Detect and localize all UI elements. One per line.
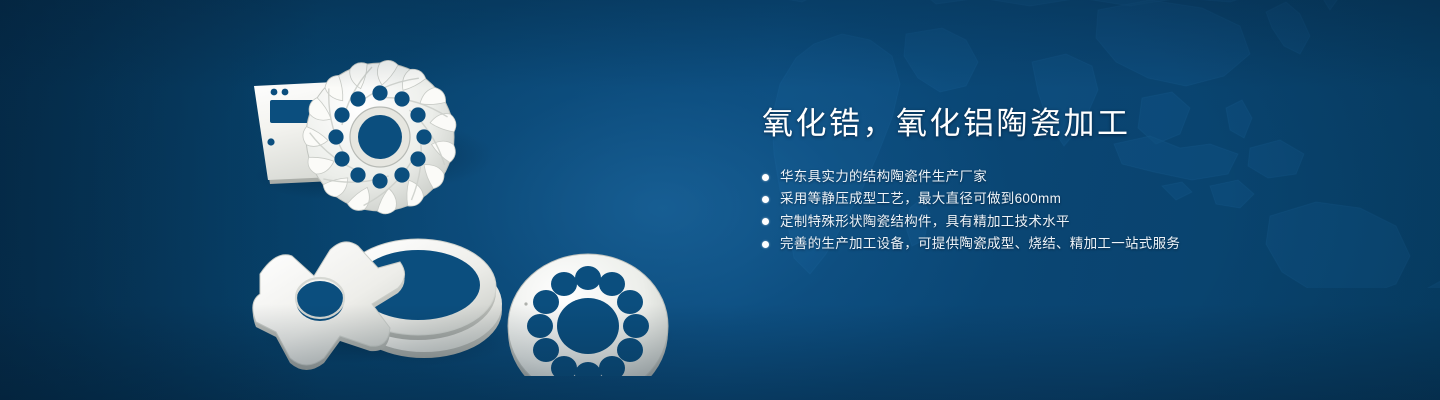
bullet-dot-icon <box>762 174 769 181</box>
bullet-dot-icon <box>762 241 769 248</box>
bullet-dot-icon <box>762 196 769 203</box>
feature-text: 采用等静压成型工艺，最大直径可做到600mm <box>780 188 1061 210</box>
banner-headline: 氧化锆，氧化铝陶瓷加工 <box>762 104 1382 144</box>
banner-text-block: 氧化锆，氧化铝陶瓷加工 华东具实力的结构陶瓷件生产厂家 采用等静压成型工艺，最大… <box>762 104 1382 255</box>
banner-feature-list: 华东具实力的结构陶瓷件生产厂家 采用等静压成型工艺，最大直径可做到600mm 定… <box>762 166 1382 255</box>
feature-text: 完善的生产加工设备，可提供陶瓷成型、烧结、精加工一站式服务 <box>780 233 1180 255</box>
feature-list-item: 华东具实力的结构陶瓷件生产厂家 <box>762 166 1382 188</box>
feature-list-item: 定制特殊形状陶瓷结构件，具有精加工技术水平 <box>762 211 1382 233</box>
bullet-dot-icon <box>762 218 769 225</box>
ceramic-processing-banner: 氧化锆，氧化铝陶瓷加工 华东具实力的结构陶瓷件生产厂家 采用等静压成型工艺，最大… <box>0 0 1440 400</box>
feature-text: 华东具实力的结构陶瓷件生产厂家 <box>780 166 987 188</box>
feature-list-item: 完善的生产加工设备，可提供陶瓷成型、烧结、精加工一站式服务 <box>762 233 1382 255</box>
feature-list-item: 采用等静压成型工艺，最大直径可做到600mm <box>762 188 1382 210</box>
feature-text: 定制特殊形状陶瓷结构件，具有精加工技术水平 <box>780 211 1070 233</box>
